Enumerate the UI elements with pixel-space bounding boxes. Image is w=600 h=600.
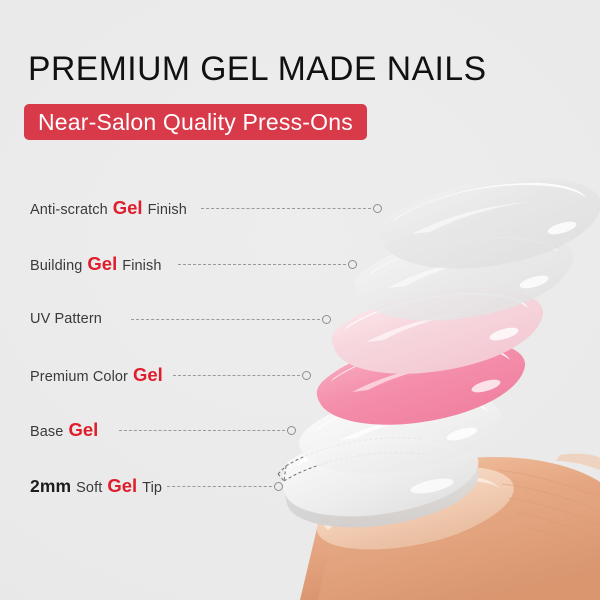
- leader-line-uv-pattern: [131, 319, 325, 321]
- callout-label-uv-pattern: UV Pattern: [30, 311, 102, 327]
- leader-endpoint-soft-gel-tip: [274, 482, 283, 491]
- leader-endpoint-anti-scratch-gel-finish: [373, 204, 382, 213]
- callout-word-gel: Gel: [68, 419, 98, 441]
- callout-word: UV Pattern: [30, 311, 102, 327]
- callout-row-anti-scratch-gel-finish: Anti-scratch Gel Finish: [30, 196, 187, 220]
- callout-row-soft-gel-tip: 2mm Soft Gel Tip: [30, 474, 162, 498]
- leader-line-building-gel-finish: [178, 264, 351, 266]
- leader-line-anti-scratch-gel-finish: [201, 208, 376, 210]
- callout-word-measure: 2mm: [30, 476, 71, 497]
- leader-line-soft-gel-tip: [167, 486, 277, 488]
- poster: PREMIUM GEL MADE NAILS Near-Salon Qualit…: [0, 0, 600, 600]
- callout-row-building-gel-finish: Building Gel Finish: [30, 252, 162, 276]
- callout-row-base-gel: Base Gel: [30, 418, 98, 442]
- callout-label-anti-scratch-gel-finish: Anti-scratch Gel Finish: [30, 197, 187, 219]
- leader-line-premium-color-gel: [173, 375, 305, 377]
- leader-endpoint-premium-color-gel: [302, 371, 311, 380]
- callout-label-soft-gel-tip: 2mm Soft Gel Tip: [30, 475, 162, 497]
- leader-endpoint-building-gel-finish: [348, 260, 357, 269]
- callout-word-gel: Gel: [107, 475, 137, 497]
- callout-word: Finish: [122, 258, 161, 274]
- callout-label-premium-color-gel: Premium Color Gel: [30, 364, 163, 386]
- callout-word: Tip: [142, 480, 162, 496]
- callout-word: Premium Color: [30, 369, 128, 385]
- callout-row-uv-pattern: UV Pattern: [30, 307, 102, 331]
- callout-word: Building: [30, 258, 82, 274]
- callout-word-gel: Gel: [87, 253, 117, 275]
- callout-word-gel: Gel: [133, 364, 163, 386]
- callout-label-building-gel-finish: Building Gel Finish: [30, 253, 162, 275]
- callout-row-premium-color-gel: Premium Color Gel: [30, 363, 163, 387]
- callout-word: Anti-scratch: [30, 202, 108, 218]
- leader-endpoint-base-gel: [287, 426, 296, 435]
- leader-line-base-gel: [119, 430, 290, 432]
- leader-endpoint-uv-pattern: [322, 315, 331, 324]
- callout-word: Finish: [148, 202, 187, 218]
- callout-label-base-gel: Base Gel: [30, 419, 98, 441]
- callout-word-gel: Gel: [113, 197, 143, 219]
- callout-word: Soft: [76, 480, 102, 496]
- callout-word: Base: [30, 424, 63, 440]
- callout-list: Anti-scratch Gel Finish Building Gel Fin…: [0, 0, 600, 600]
